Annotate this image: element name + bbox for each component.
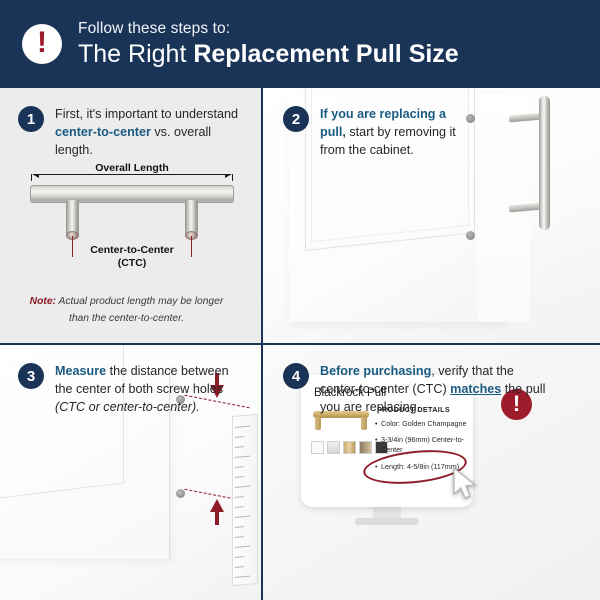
installed-pull-bar	[539, 96, 550, 230]
steps-grid: 1 First, it's important to understand ce…	[0, 88, 600, 600]
measure-arrow-up-stem	[215, 511, 219, 525]
step-1-text-a: First, it's important to understand	[55, 107, 238, 121]
product-image-leg-right	[361, 417, 367, 430]
step-panel-1: 1 First, it's important to understand ce…	[0, 88, 262, 344]
step-panel-4: Blackrock Pull PRODUCT DETAILS	[263, 345, 600, 600]
product-thumbnail[interactable]	[359, 441, 372, 454]
pull-bar-graphic	[30, 185, 234, 203]
step-4-link-matches[interactable]: matches	[450, 382, 501, 396]
overall-length-label: Overall Length	[28, 162, 236, 174]
ctc-abbrev-label: (CTC)	[68, 257, 196, 269]
step-2-header: 2 If you are replacing a pull, start by …	[283, 106, 463, 160]
divider-horizontal	[0, 343, 600, 345]
page-title: The Right Replacement Pull Size	[78, 40, 459, 69]
headline-light: The Right	[78, 40, 193, 68]
product-detail-item: Color: Golden Champagne	[375, 419, 467, 429]
step-4-text: Before purchasing, verify that the cente…	[320, 363, 553, 417]
step-3-number: 3	[18, 363, 44, 389]
exclamation-glyph: !	[37, 28, 47, 58]
step-4-number: 4	[283, 363, 309, 389]
step-4-text-bold: Before purchasing	[320, 364, 431, 378]
product-image-leg-left	[315, 417, 321, 430]
header-eyebrow: Follow these steps to:	[78, 20, 459, 38]
step-4-header: 4 Before purchasing, verify that the cen…	[283, 363, 553, 417]
step-3-text-bold: Measure	[55, 364, 106, 378]
product-thumbnail[interactable]	[343, 441, 356, 454]
step-1-text-bold: center-to-center	[55, 125, 151, 139]
product-thumbnail[interactable]	[327, 441, 340, 454]
step-2-number: 2	[283, 106, 309, 132]
headline-bold: Replacement Pull Size	[193, 40, 458, 68]
page-header: ! Follow these steps to: The Right Repla…	[0, 0, 600, 88]
alert-exclamation-icon: !	[22, 24, 62, 64]
screw-hole-bottom	[466, 231, 475, 240]
diagram-note-prefix: Note:	[30, 296, 56, 307]
diagram-note: Note: Actual product length may be longe…	[24, 294, 229, 327]
step-3-text: Measure the distance between the center …	[55, 363, 244, 417]
step-1-text: First, it's important to understand cent…	[55, 106, 246, 160]
step-panel-3: 3 Measure the distance between the cente…	[0, 345, 262, 600]
step-1-number: 1	[18, 106, 44, 132]
step-2-text: If you are replacing a pull, start by re…	[320, 106, 463, 160]
diagram-note-text: Actual product length may be longer than…	[56, 296, 223, 324]
ctc-label: Center-to-Center	[68, 244, 196, 256]
step-3-text-italic: (CTC or center-to-center).	[55, 400, 200, 414]
measure-arrow-up-icon	[210, 499, 224, 512]
screw-hole-bottom-measuring	[176, 489, 185, 498]
ruler-graphic	[232, 414, 258, 586]
overall-length-line	[34, 174, 230, 175]
step-3-header: 3 Measure the distance between the cente…	[18, 363, 244, 417]
step-panel-2: 2 If you are replacing a pull, start by …	[263, 88, 600, 344]
screw-hole-top	[466, 114, 475, 123]
product-thumbnail[interactable]	[311, 441, 324, 454]
monitor-base	[355, 518, 419, 525]
step-1-header: 1 First, it's important to understand ce…	[18, 106, 246, 160]
infographic-page: ! Follow these steps to: The Right Repla…	[0, 0, 600, 600]
header-text-block: Follow these steps to: The Right Replace…	[78, 20, 459, 69]
